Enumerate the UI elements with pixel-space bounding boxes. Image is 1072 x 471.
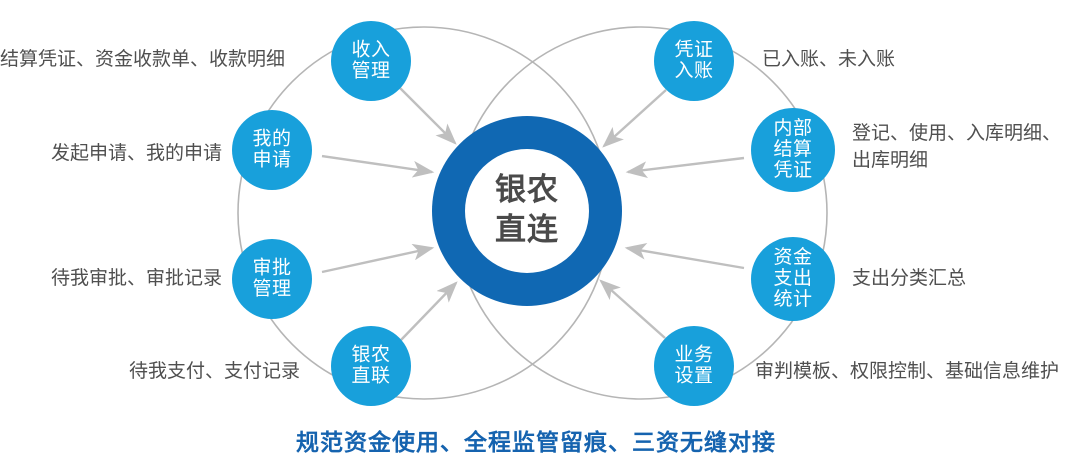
node-label-business-settings: 设置: [674, 365, 713, 387]
core-label-line1: 银农: [495, 172, 559, 207]
side-label-line: 待我审批、审批记录: [0, 265, 222, 292]
side-label-line: 出库明细: [852, 147, 1072, 174]
node-label-internal-settlement-voucher: 内部: [773, 117, 812, 139]
side-label-line: 已入账、未入账: [762, 46, 1002, 73]
node-label-fund-expenditure-statistics: 统计: [773, 288, 812, 310]
node-label-income-management: 管理: [351, 60, 390, 82]
side-label-line: 结算凭证、资金收款单、收款明细: [0, 46, 296, 73]
side-label-line: 登记、使用、入库明细、: [852, 120, 1072, 147]
node-fund-expenditure-statistics[interactable]: 资金支出统计: [751, 237, 835, 321]
side-label-business-settings: 审判模板、权限控制、基础信息维护: [755, 358, 1072, 385]
node-voucher-posting[interactable]: 凭证入账: [654, 21, 734, 101]
diagram-canvas: 银农 直连 收入管理我的申请审批管理银农直联凭证入账内部结算凭证资金支出统计业务…: [0, 0, 1072, 471]
side-label-line: 发起申请、我的申请: [0, 140, 222, 167]
node-label-bank-direct-connect: 银农: [351, 344, 390, 366]
node-label-internal-settlement-voucher: 结算: [773, 138, 812, 160]
node-label-my-application: 申请: [252, 149, 291, 171]
node-approval-management[interactable]: 审批管理: [232, 239, 312, 319]
node-business-settings[interactable]: 业务设置: [654, 326, 734, 406]
node-label-bank-direct-connect: 直联: [351, 365, 390, 387]
side-label-fund-expenditure-statistics: 支出分类汇总: [852, 265, 1052, 292]
node-label-approval-management: 审批: [252, 257, 291, 279]
node-label-voucher-posting: 入账: [674, 60, 713, 82]
side-label-approval-management: 待我审批、审批记录: [0, 265, 222, 292]
node-my-application[interactable]: 我的申请: [232, 110, 312, 190]
node-label-fund-expenditure-statistics: 资金: [773, 246, 812, 268]
side-label-bank-direct-connect: 待我支付、支付记录: [0, 358, 300, 385]
node-label-fund-expenditure-statistics: 支出: [773, 267, 812, 289]
diagram-caption: 规范资金使用、全程监管留痕、三资无缝对接: [0, 423, 1072, 457]
side-label-line: 审判模板、权限控制、基础信息维护: [755, 358, 1072, 385]
node-label-business-settings: 业务: [674, 344, 713, 366]
node-label-approval-management: 管理: [252, 278, 291, 300]
side-label-my-application: 发起申请、我的申请: [0, 140, 222, 167]
node-label-income-management: 收入: [351, 39, 390, 61]
side-label-income-management: 结算凭证、资金收款单、收款明细: [0, 46, 296, 73]
core-label-line2: 直连: [495, 212, 559, 247]
node-label-internal-settlement-voucher: 凭证: [773, 159, 812, 181]
node-income-management[interactable]: 收入管理: [331, 21, 411, 101]
node-label-my-application: 我的: [252, 128, 291, 150]
node-label-voucher-posting: 凭证: [674, 39, 713, 61]
node-bank-direct-connect[interactable]: 银农直联: [331, 326, 411, 406]
side-label-line: 支出分类汇总: [852, 265, 1052, 292]
side-label-internal-settlement-voucher: 登记、使用、入库明细、出库明细: [852, 120, 1072, 174]
node-internal-settlement-voucher[interactable]: 内部结算凭证: [751, 108, 835, 192]
side-label-line: 待我支付、支付记录: [0, 358, 300, 385]
side-label-voucher-posting: 已入账、未入账: [762, 46, 1002, 73]
